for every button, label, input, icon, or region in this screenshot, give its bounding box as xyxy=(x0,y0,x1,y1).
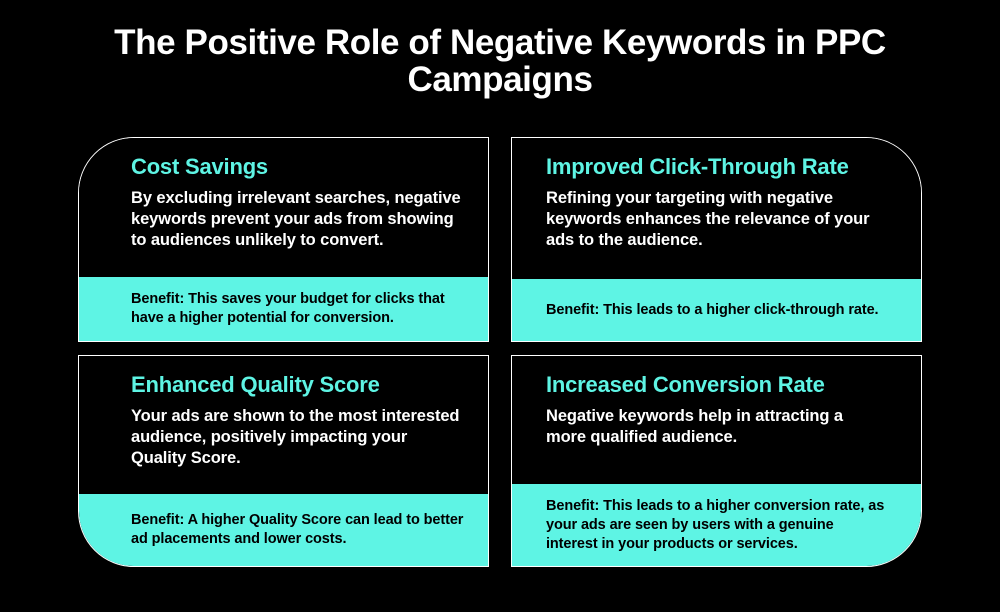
card-body: Increased Conversion Rate Negative keywo… xyxy=(512,356,921,484)
card-body: Improved Click-Through Rate Refining you… xyxy=(512,138,921,279)
card-description: By excluding irrelevant searches, negati… xyxy=(131,188,466,251)
cards-grid: Cost Savings By excluding irrelevant sea… xyxy=(78,137,922,567)
card-heading: Enhanced Quality Score xyxy=(131,372,466,398)
benefit-label: Benefit: xyxy=(546,302,599,318)
card-benefit-line: Benefit: This leads to a higher conversi… xyxy=(546,497,887,554)
card-benefit-line: Benefit: This leads to a higher click-th… xyxy=(546,301,879,320)
card-benefit-band: Benefit: This leads to a higher conversi… xyxy=(512,484,921,566)
card-improved-click-through-rate: Improved Click-Through Rate Refining you… xyxy=(511,137,922,342)
benefit-label: Benefit: xyxy=(546,498,599,514)
card-cost-savings: Cost Savings By excluding irrelevant sea… xyxy=(78,137,489,342)
benefit-label: Benefit: xyxy=(131,512,184,528)
benefit-label: Benefit: xyxy=(131,291,184,307)
card-benefit-band: Benefit: A higher Quality Score can lead… xyxy=(79,494,488,566)
card-heading: Improved Click-Through Rate xyxy=(546,154,881,180)
card-benefit-band: Benefit: This leads to a higher click-th… xyxy=(512,279,921,341)
page-title: The Positive Role of Negative Keywords i… xyxy=(0,24,1000,98)
card-description: Negative keywords help in attracting a m… xyxy=(546,406,881,448)
benefit-text: This leads to a higher click-through rat… xyxy=(603,302,878,318)
card-body: Enhanced Quality Score Your ads are show… xyxy=(79,356,488,494)
card-heading: Cost Savings xyxy=(131,154,466,180)
card-enhanced-quality-score: Enhanced Quality Score Your ads are show… xyxy=(78,355,489,567)
card-increased-conversion-rate: Increased Conversion Rate Negative keywo… xyxy=(511,355,922,567)
card-body: Cost Savings By excluding irrelevant sea… xyxy=(79,138,488,277)
card-benefit-line: Benefit: A higher Quality Score can lead… xyxy=(131,511,468,549)
card-description: Refining your targeting with negative ke… xyxy=(546,188,881,251)
infographic-root: The Positive Role of Negative Keywords i… xyxy=(0,0,1000,612)
card-benefit-band: Benefit: This saves your budget for clic… xyxy=(79,277,488,341)
card-heading: Increased Conversion Rate xyxy=(546,372,881,398)
card-benefit-line: Benefit: This saves your budget for clic… xyxy=(131,290,468,328)
card-description: Your ads are shown to the most intereste… xyxy=(131,406,466,469)
title-block: The Positive Role of Negative Keywords i… xyxy=(0,24,1000,98)
